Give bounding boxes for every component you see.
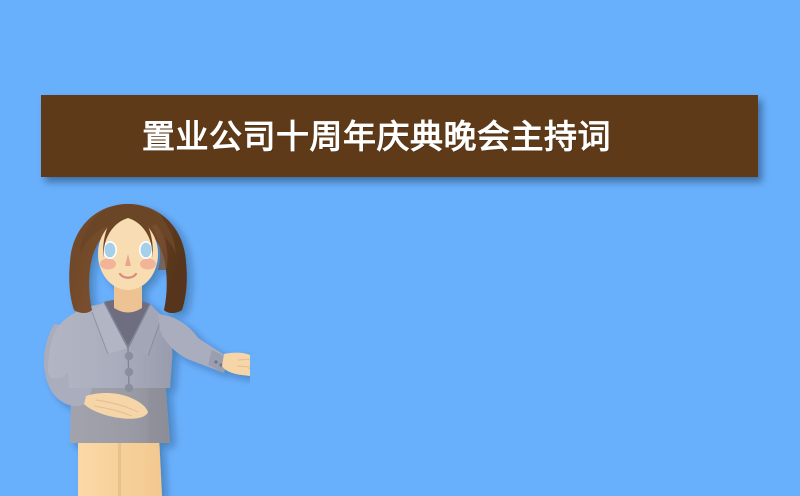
cheek <box>140 259 156 270</box>
jacket-button <box>125 368 133 376</box>
page-root: 置业公司十周年庆典晚会主持词 <box>0 0 800 496</box>
cheek <box>100 259 116 270</box>
right-hand-group <box>222 353 250 377</box>
female-presenter-illustration <box>30 196 250 496</box>
jacket-button <box>125 384 133 392</box>
presenter-figure-group <box>44 204 250 496</box>
title-banner: 置业公司十周年庆典晚会主持词 <box>41 95 758 177</box>
page-title: 置业公司十周年庆典晚会主持词 <box>142 120 611 153</box>
jacket-button <box>125 352 133 360</box>
